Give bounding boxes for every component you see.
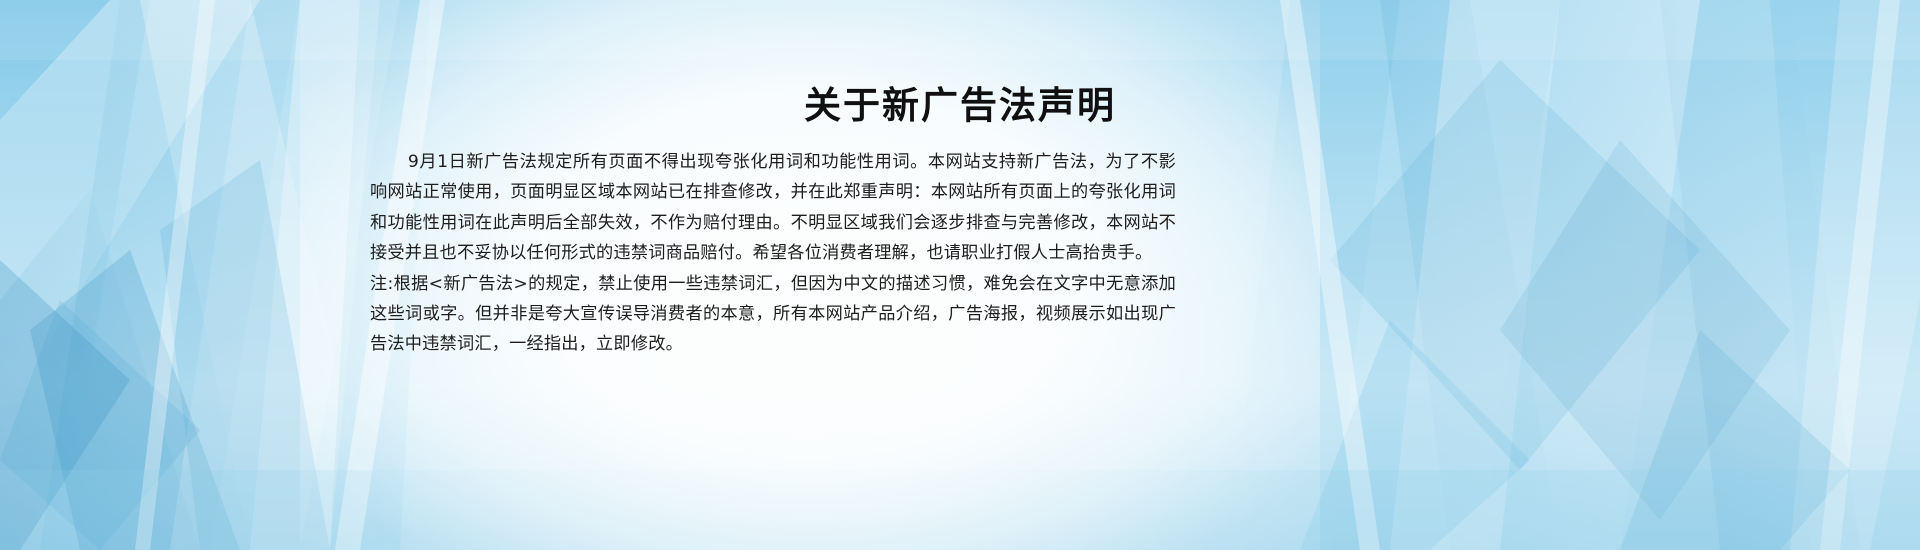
statement-paragraph-2: 注:根据<新广告法>的规定，禁止使用一些违禁词汇，但因为中文的描述习惯，难免会在… (370, 269, 1176, 360)
statement-content: 关于新广告法声明 9月1日新广告法规定所有页面不得出现夸张化用词和功能性用词。本… (0, 0, 1920, 550)
statement-body: 9月1日新广告法规定所有页面不得出现夸张化用词和功能性用词。本网站支持新广告法，… (370, 147, 1176, 360)
page-title: 关于新广告法声明 (0, 84, 1920, 128)
statement-paragraph-1: 9月1日新广告法规定所有页面不得出现夸张化用词和功能性用词。本网站支持新广告法，… (370, 147, 1176, 269)
advertising-law-statement-banner: 关于新广告法声明 9月1日新广告法规定所有页面不得出现夸张化用词和功能性用词。本… (0, 0, 1920, 550)
